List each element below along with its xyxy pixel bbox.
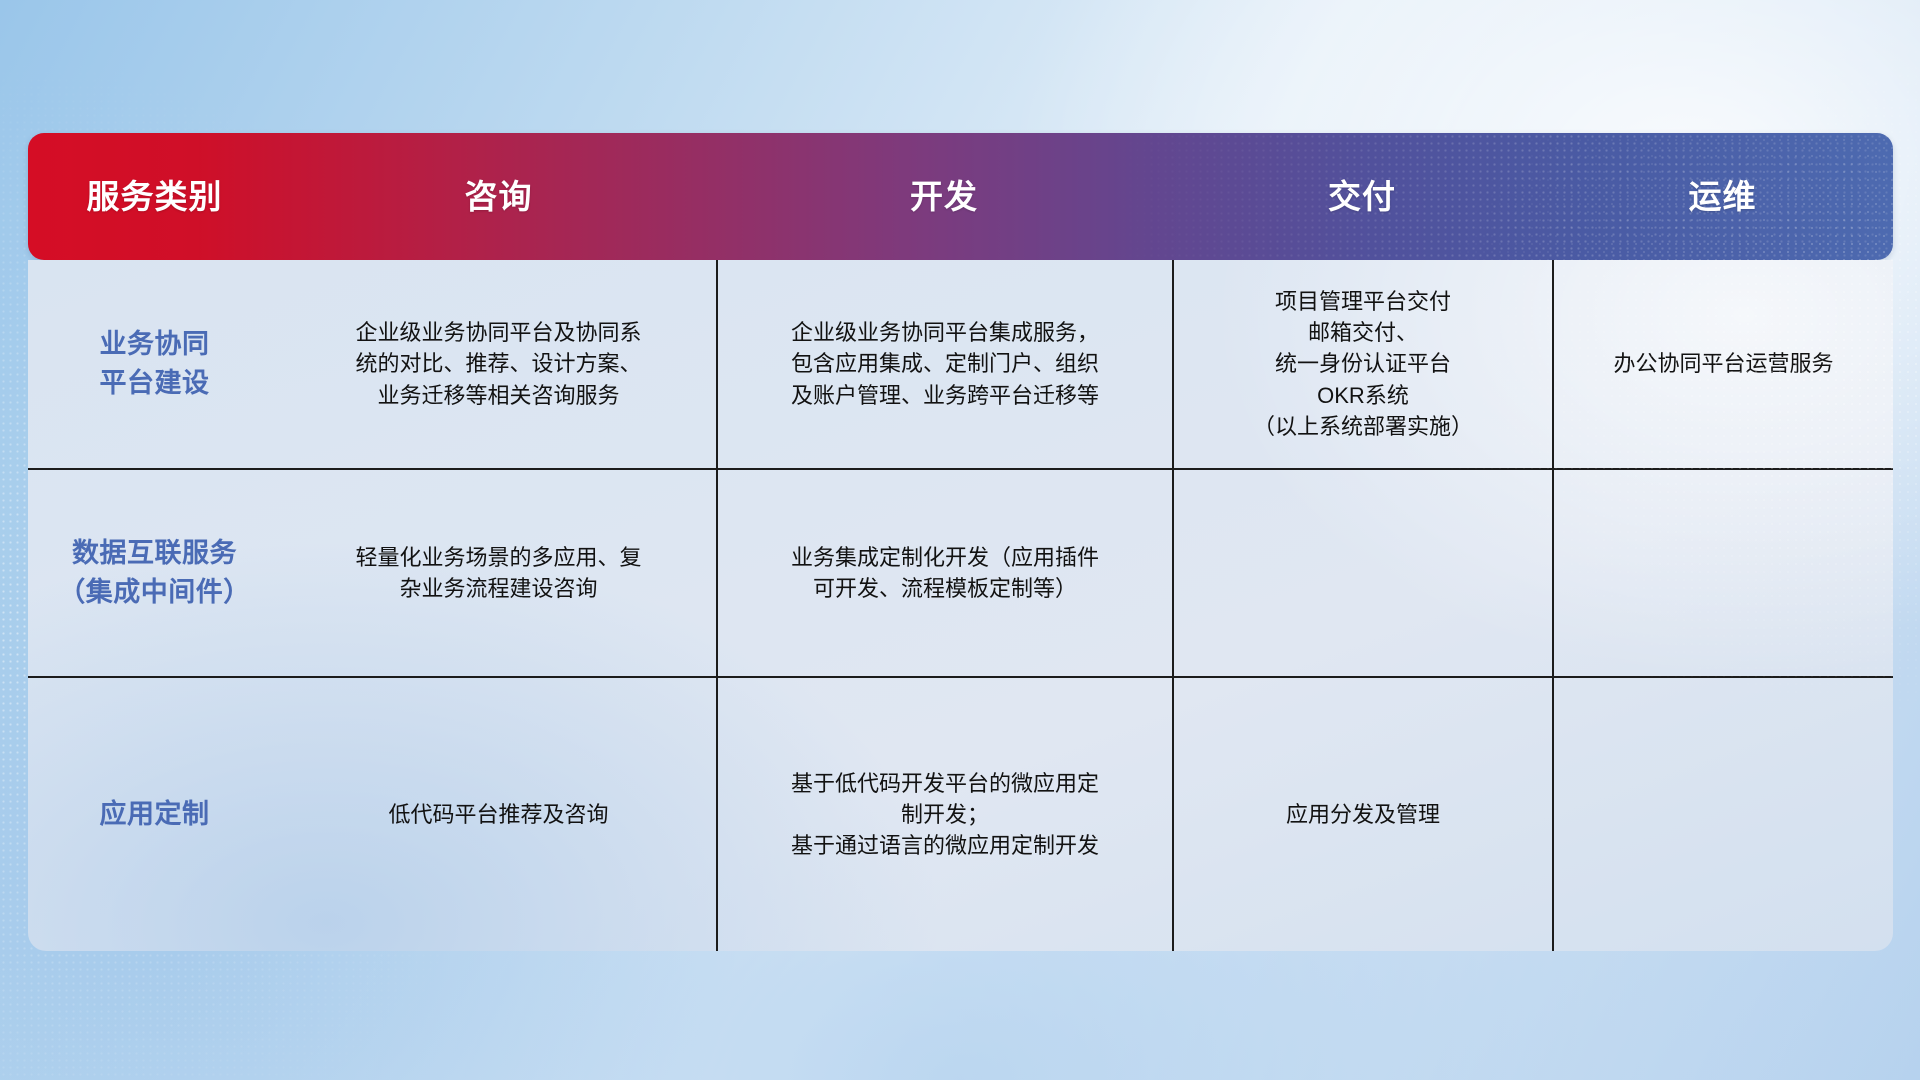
cell-consulting: 轻量化业务场景的多应用、复 杂业务流程建设咨询 <box>281 470 716 676</box>
column-header-operations: 运维 <box>1552 180 1893 213</box>
column-header-consulting: 咨询 <box>281 180 716 213</box>
cell-operations: 办公协同平台运营服务 <box>1552 260 1893 468</box>
row-category-cell: 业务协同 平台建设 <box>28 260 281 468</box>
column-header-delivery: 交付 <box>1172 180 1552 213</box>
slide-canvas: 服务类别 咨询 开发 交付 运维 业务协同 平台建设 企业级业务协同平台及协同系… <box>0 0 1920 1080</box>
column-header-development: 开发 <box>716 180 1172 213</box>
cell-consulting: 低代码平台推荐及咨询 <box>281 678 716 951</box>
cell-delivery <box>1172 470 1552 676</box>
cell-operations <box>1552 470 1893 676</box>
row-category-cell: 数据互联服务 （集成中间件） <box>28 470 281 676</box>
cell-delivery: 应用分发及管理 <box>1172 678 1552 951</box>
row-category-label: 业务协同 平台建设 <box>100 325 210 403</box>
cell-operations <box>1552 678 1893 951</box>
cell-development: 业务集成定制化开发（应用插件 可开发、流程模板定制等） <box>716 470 1172 676</box>
table-row: 应用定制 低代码平台推荐及咨询 基于低代码开发平台的微应用定 制开发； 基于通过… <box>28 678 1893 951</box>
cell-development: 基于低代码开发平台的微应用定 制开发； 基于通过语言的微应用定制开发 <box>716 678 1172 951</box>
table-row: 业务协同 平台建设 企业级业务协同平台及协同系 统的对比、推荐、设计方案、 业务… <box>28 260 1893 470</box>
table-row: 数据互联服务 （集成中间件） 轻量化业务场景的多应用、复 杂业务流程建设咨询 业… <box>28 470 1893 678</box>
table-header-row: 服务类别 咨询 开发 交付 运维 <box>28 133 1893 260</box>
cell-consulting: 企业级业务协同平台及协同系 统的对比、推荐、设计方案、 业务迁移等相关咨询服务 <box>281 260 716 468</box>
service-matrix-table: 服务类别 咨询 开发 交付 运维 业务协同 平台建设 企业级业务协同平台及协同系… <box>28 133 1893 951</box>
cell-development: 企业级业务协同平台集成服务， 包含应用集成、定制门户、组织 及账户管理、业务跨平… <box>716 260 1172 468</box>
row-category-cell: 应用定制 <box>28 678 281 951</box>
row-category-label: 数据互联服务 （集成中间件） <box>58 534 251 612</box>
table-body: 业务协同 平台建设 企业级业务协同平台及协同系 统的对比、推荐、设计方案、 业务… <box>28 260 1893 951</box>
row-category-label: 应用定制 <box>100 795 210 834</box>
cell-delivery: 项目管理平台交付 邮箱交付、 统一身份认证平台 OKR系统 （以上系统部署实施） <box>1172 260 1552 468</box>
column-header-category: 服务类别 <box>28 180 281 213</box>
